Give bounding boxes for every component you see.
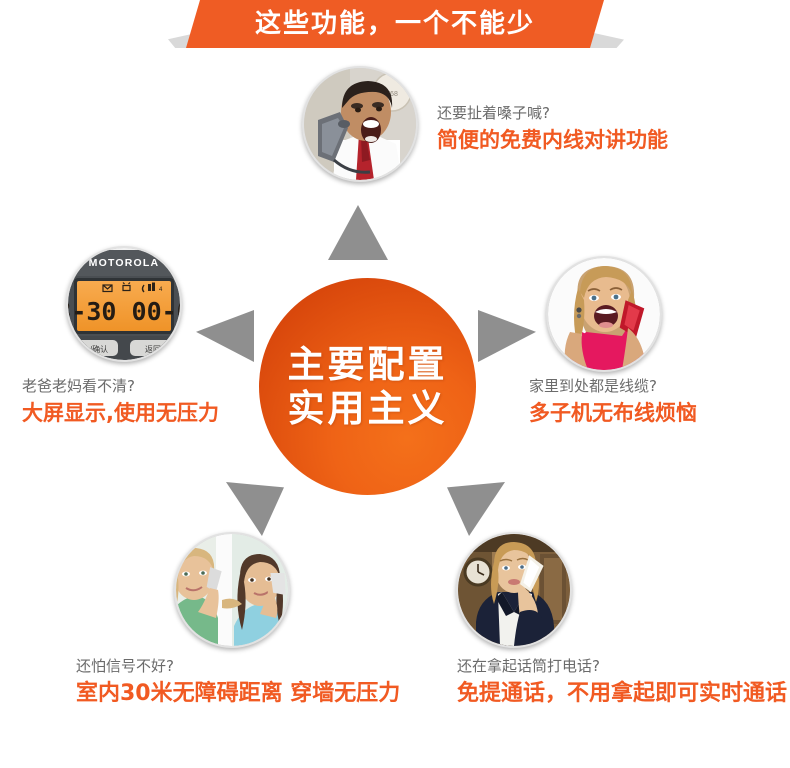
photo-woman-laughing-on-phone: [546, 256, 662, 372]
feature-question-handsfree: 还在拿起话筒打电话?: [457, 656, 787, 677]
feature-answer-big-screen: 大屏显示,使用无压力: [22, 400, 219, 426]
feature-answer-intercom: 简便的免费内线对讲功能: [437, 127, 668, 153]
feature-question-multi-handset: 家里到处都是线缆?: [529, 376, 697, 397]
feature-answer-range: 室内30米无障碍距离 穿墙无压力: [76, 680, 400, 708]
banner-title: 这些功能，一个不能少: [255, 11, 535, 37]
feature-text-intercom: 还要扯着嗓子喊? 简便的免费内线对讲功能: [437, 103, 668, 153]
svg-text:返回: 返回: [145, 345, 161, 354]
photo-two-women-on-phones: [174, 532, 290, 648]
svg-text:03-30 00-07: 03-30 00-07: [68, 297, 180, 326]
center-title-line2: 实用主义: [288, 387, 448, 431]
banner-ribbon: 这些功能，一个不能少: [186, 0, 604, 48]
arrow-right-icon: [478, 310, 536, 362]
center-circle: 主要配置 实用主义: [259, 278, 476, 495]
feature-answer-handsfree: 免提通话，不用拿起即可实时通话: [457, 680, 787, 708]
photo-woman-in-blazer-on-phone: [456, 532, 572, 648]
feature-text-handsfree: 还在拿起话筒打电话? 免提通话，不用拿起即可实时通话: [457, 656, 787, 708]
svg-text:MOTOROLA: MOTOROLA: [89, 257, 160, 269]
feature-text-range: 还怕信号不好? 室内30米无障碍距离 穿墙无压力: [76, 656, 400, 708]
feature-text-big-screen: 老爸老妈看不清? 大屏显示,使用无压力: [22, 376, 219, 426]
header-banner: 这些功能，一个不能少: [0, 0, 790, 58]
infographic-root: 这些功能，一个不能少 主要配置 实用主义 768: [0, 0, 790, 768]
feature-question-range: 还怕信号不好?: [76, 656, 400, 677]
photo-man-shouting-into-handset: 768: [302, 66, 418, 182]
feature-text-multi-handset: 家里到处都是线缆? 多子机无布线烦恼: [529, 376, 697, 426]
svg-text:入/确认: 入/确认: [82, 344, 108, 354]
feature-question-big-screen: 老爸老妈看不清?: [22, 376, 219, 397]
center-title-line1: 主要配置: [288, 343, 448, 387]
photo-motorola-phone-lcd: MOTOROLA 4 03-30 00-07: [66, 246, 182, 362]
feature-answer-multi-handset: 多子机无布线烦恼: [529, 400, 697, 426]
arrow-up-icon: [328, 205, 388, 260]
arrow-down-left-icon: [226, 482, 284, 536]
arrow-down-right-icon: [447, 482, 505, 536]
arrow-left-icon: [196, 310, 254, 362]
feature-question-intercom: 还要扯着嗓子喊?: [437, 103, 668, 124]
